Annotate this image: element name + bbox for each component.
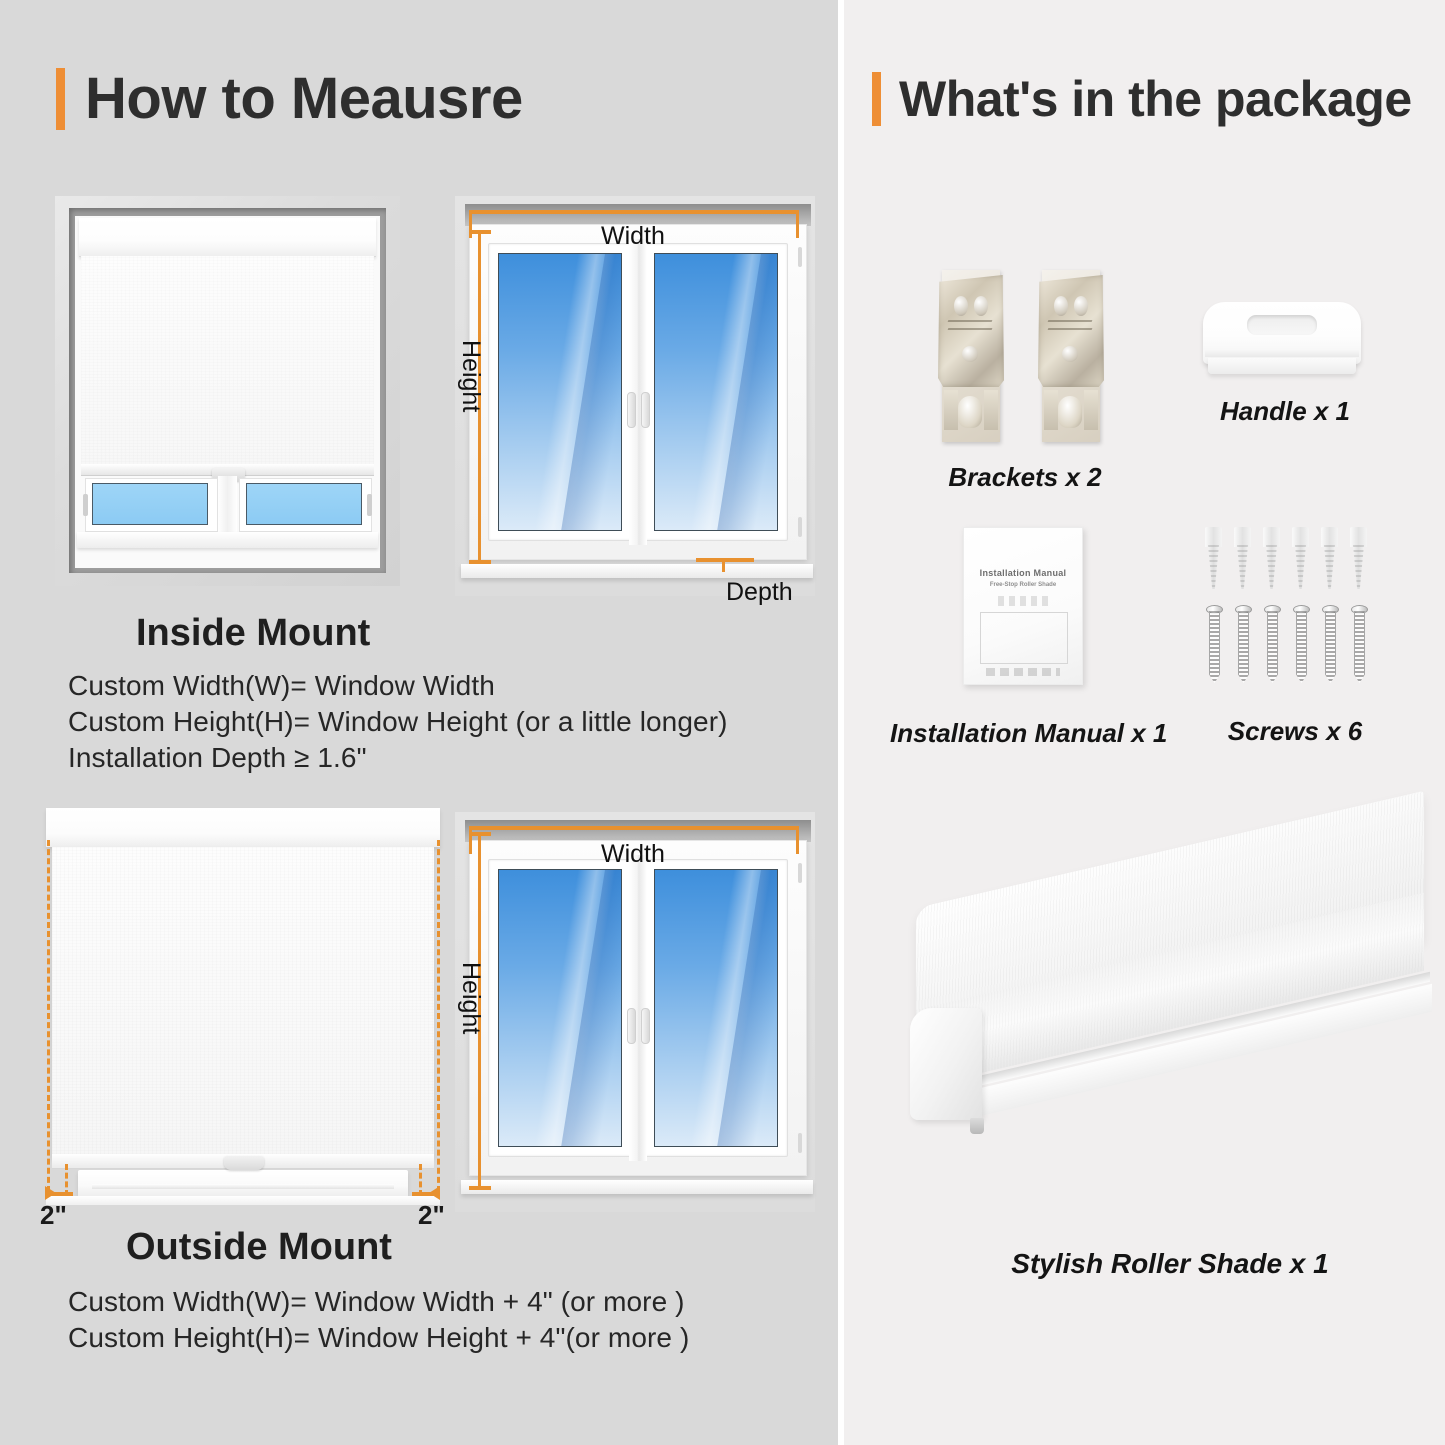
handle-base <box>1208 358 1356 374</box>
bracket-tab-left <box>944 390 958 430</box>
accent-bar-left <box>56 68 65 130</box>
screw-shaft <box>1267 611 1278 683</box>
manual-cover-lines <box>998 596 1050 606</box>
window-glass-left <box>92 483 208 525</box>
window-sill-line <box>92 1184 394 1189</box>
anchor-body <box>1353 545 1364 589</box>
screw-icon <box>1205 527 1377 687</box>
anchor-head <box>1263 527 1280 547</box>
bracket-hole-a <box>1054 296 1068 316</box>
screw-3 <box>1264 605 1279 683</box>
whats-in-package-heading: What's in the package <box>872 72 1412 126</box>
outside-mount-shade-illustration <box>38 806 448 1206</box>
width-label-inside: Width <box>601 222 665 251</box>
inside-mount-dimension-diagram <box>455 196 815 596</box>
overhang-arrow-right <box>429 1186 440 1200</box>
bracket-hole-c <box>962 346 978 362</box>
window-sash-left <box>488 859 632 1157</box>
anchor-body <box>1237 545 1248 589</box>
bracket-keyhole <box>1058 396 1082 428</box>
window-handle-left <box>627 1008 636 1044</box>
window-handle-right <box>641 1008 650 1044</box>
inside-mount-spec-1: Custom Width(W)= Window Width <box>68 670 495 702</box>
manual-cover-image-box <box>980 612 1068 664</box>
window-frame <box>469 224 807 560</box>
bracket-rib-2 <box>1048 328 1093 330</box>
handle-label: Handle x 1 <box>1160 396 1410 427</box>
screw-shaft <box>1325 611 1336 683</box>
screw-shaft <box>1296 611 1307 683</box>
outside-mount-spec-1: Custom Width(W)= Window Width + 4" (or m… <box>68 1286 685 1318</box>
outside-mount-title: Outside Mount <box>126 1226 392 1269</box>
roller-shade-pin <box>970 1118 984 1134</box>
bracket-2 <box>1032 270 1110 450</box>
window-mullion <box>218 476 237 532</box>
anchor-head <box>1350 527 1367 547</box>
bracket-tab-right <box>1084 390 1098 430</box>
inside-mount-spec-3: Installation Depth ≥ 1.6" <box>68 742 367 774</box>
window-glass-right <box>246 483 362 525</box>
bracket-hole-b <box>1074 296 1088 316</box>
bracket-rib-1 <box>1048 320 1093 322</box>
handle-icon <box>1203 302 1361 380</box>
window-handle-left <box>627 392 636 428</box>
wall-anchor-4 <box>1292 527 1309 589</box>
window-hinge-bottom <box>798 1133 802 1153</box>
how-to-measure-heading-text: How to Meausre <box>85 70 523 128</box>
height-label-inside: Height <box>456 340 485 412</box>
screws-label: Screws x 6 <box>1190 716 1400 747</box>
width-measure-line <box>469 826 799 830</box>
screw-shaft <box>1354 611 1365 683</box>
wall-anchor-1 <box>1205 527 1222 589</box>
screw-shaft <box>1209 611 1220 683</box>
how-to-measure-heading: How to Meausre <box>56 68 523 130</box>
width-label-outside: Width <box>601 840 665 869</box>
window-hinge-top <box>798 863 802 883</box>
wall-anchor-5 <box>1321 527 1338 589</box>
width-measure-cap-right <box>796 826 799 854</box>
window-sill <box>77 532 378 548</box>
shade-fabric <box>81 256 374 468</box>
window-handle-right <box>641 392 650 428</box>
anchor-head <box>1321 527 1338 547</box>
window-hinge-right <box>367 494 372 516</box>
height-measure-cap-bottom <box>469 1186 491 1190</box>
depth-label-inside: Depth <box>726 578 793 607</box>
inside-mount-title: Inside Mount <box>136 612 370 655</box>
window-frame <box>469 840 807 1176</box>
window-sash-right <box>644 243 788 541</box>
window-sill-front <box>46 1196 440 1205</box>
infographic-page: How to Meausre <box>0 0 1445 1445</box>
window-hinge-top <box>798 247 802 267</box>
anchor-body <box>1324 545 1335 589</box>
screw-1 <box>1206 605 1221 683</box>
window-pane-right <box>654 253 778 531</box>
width-measure-cap-left <box>469 826 472 854</box>
brackets-label: Brackets x 2 <box>900 462 1150 493</box>
handle-grip-hole <box>1247 315 1317 335</box>
anchor-head <box>1234 527 1251 547</box>
bracket-metal <box>1038 275 1104 387</box>
height-measure-cap-top <box>469 230 491 234</box>
overhang-label-left: 2" <box>40 1200 67 1231</box>
screw-shaft <box>1238 611 1249 683</box>
window-sill <box>461 564 813 578</box>
anchor-head <box>1292 527 1309 547</box>
window-pane-left <box>498 253 622 531</box>
inside-mount-spec-2: Custom Height(H)= Window Height (or a li… <box>68 706 728 738</box>
anchor-head <box>1205 527 1222 547</box>
overhang-guide-left-outer <box>47 840 50 1192</box>
anchor-body <box>1208 545 1219 589</box>
bracket-1 <box>932 270 1010 450</box>
manual-icon: Installation Manual Free-Stop Roller Sha… <box>963 527 1083 685</box>
bracket-metal <box>938 275 1004 387</box>
manual-label: Installation Manual x 1 <box>890 718 1155 749</box>
depth-measure-stem <box>722 558 725 572</box>
wall-anchor-2 <box>1234 527 1251 589</box>
height-label-outside: Height <box>456 962 485 1034</box>
window-lintel <box>465 820 811 842</box>
bracket-tab-left <box>1044 390 1058 430</box>
bracket-hole-b <box>974 296 988 316</box>
wall-anchor-3 <box>1263 527 1280 589</box>
bracket-rib-1 <box>948 320 993 322</box>
anchor-body <box>1295 545 1306 589</box>
window-hinge-bottom <box>798 517 802 537</box>
bracket-hole-c <box>1062 346 1078 362</box>
accent-bar-right <box>872 72 881 126</box>
overhang-arrow-left <box>45 1186 56 1200</box>
inside-mount-shade-illustration <box>55 196 400 586</box>
roller-shade-end-cap <box>910 1008 982 1120</box>
bracket-rib-2 <box>948 328 993 330</box>
shade-fabric <box>52 847 434 1157</box>
width-measure-line <box>469 210 799 214</box>
roller-shade-icon <box>910 890 1430 1190</box>
window-hinge-left <box>83 494 88 516</box>
window-sash-left <box>488 243 632 541</box>
screw-6 <box>1351 605 1366 683</box>
wall-anchor-6 <box>1350 527 1367 589</box>
screw-5 <box>1322 605 1337 683</box>
manual-cover-title: Installation Manual <box>972 568 1074 578</box>
width-measure-cap-right <box>796 210 799 238</box>
outside-mount-dimension-diagram <box>455 812 815 1212</box>
height-measure-cap-bottom <box>469 560 491 564</box>
whats-in-package-heading-text: What's in the package <box>899 74 1412 124</box>
window-sill <box>461 1180 813 1194</box>
height-measure-cap-top <box>469 832 491 836</box>
handle-lip <box>1205 350 1359 357</box>
roller-shade-label: Stylish Roller Shade x 1 <box>940 1248 1400 1280</box>
window-pane-right <box>654 869 778 1147</box>
shade-valance <box>46 808 440 847</box>
anchor-body <box>1266 545 1277 589</box>
bracket-keyhole <box>958 396 982 428</box>
depth-measure-line <box>696 558 754 562</box>
bracket-icon <box>932 270 1118 450</box>
manual-cover-footer <box>986 668 1060 676</box>
bracket-tab-right <box>984 390 998 430</box>
manual-cover-subtitle: Free-Stop Roller Shade <box>972 582 1074 588</box>
bracket-hole-a <box>954 296 968 316</box>
window-pane-left <box>498 869 622 1147</box>
overhang-guide-right-outer <box>437 840 440 1192</box>
outside-mount-spec-2: Custom Height(H)= Window Height + 4"(or … <box>68 1322 689 1354</box>
screw-4 <box>1293 605 1308 683</box>
overhang-label-right: 2" <box>418 1200 445 1231</box>
screw-2 <box>1235 605 1250 683</box>
window-sash-right <box>644 859 788 1157</box>
shade-handle-icon <box>224 1156 264 1170</box>
shade-valance <box>79 218 376 257</box>
